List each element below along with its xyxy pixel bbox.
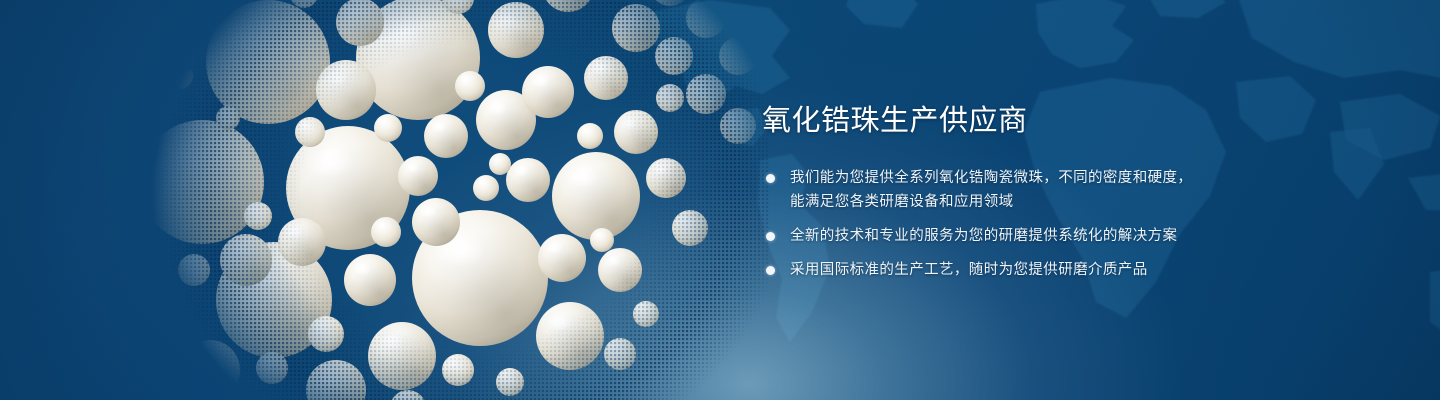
list-item-line: 能满足您各类研磨设备和应用领域 — [790, 190, 1232, 214]
feature-list: 我们能为您提供全系列氧化锆陶瓷微珠，不同的密度和硬度， 能满足您各类研磨设备和应… — [762, 166, 1232, 282]
page-title: 氧化锆珠生产供应商 — [762, 100, 1232, 140]
list-item: 我们能为您提供全系列氧化锆陶瓷微珠，不同的密度和硬度， 能满足您各类研磨设备和应… — [762, 166, 1232, 214]
bullet-dot-icon — [766, 266, 775, 275]
banner-copy: 氧化锆珠生产供应商 我们能为您提供全系列氧化锆陶瓷微珠，不同的密度和硬度， 能满… — [762, 100, 1232, 282]
list-item: 采用国际标准的生产工艺，随时为您提供研磨介质产品 — [762, 258, 1232, 282]
list-item: 全新的技术和专业的服务为您的研磨提供系统化的解决方案 — [762, 224, 1232, 248]
bullet-dot-icon — [766, 232, 775, 241]
list-item-line: 我们能为您提供全系列氧化锆陶瓷微珠，不同的密度和硬度， — [790, 166, 1232, 190]
bullet-dot-icon — [766, 174, 775, 183]
list-item-line: 采用国际标准的生产工艺，随时为您提供研磨介质产品 — [790, 258, 1232, 282]
list-item-line: 全新的技术和专业的服务为您的研磨提供系统化的解决方案 — [790, 224, 1232, 248]
hero-banner: 氧化锆珠生产供应商 我们能为您提供全系列氧化锆陶瓷微珠，不同的密度和硬度， 能满… — [0, 0, 1440, 400]
